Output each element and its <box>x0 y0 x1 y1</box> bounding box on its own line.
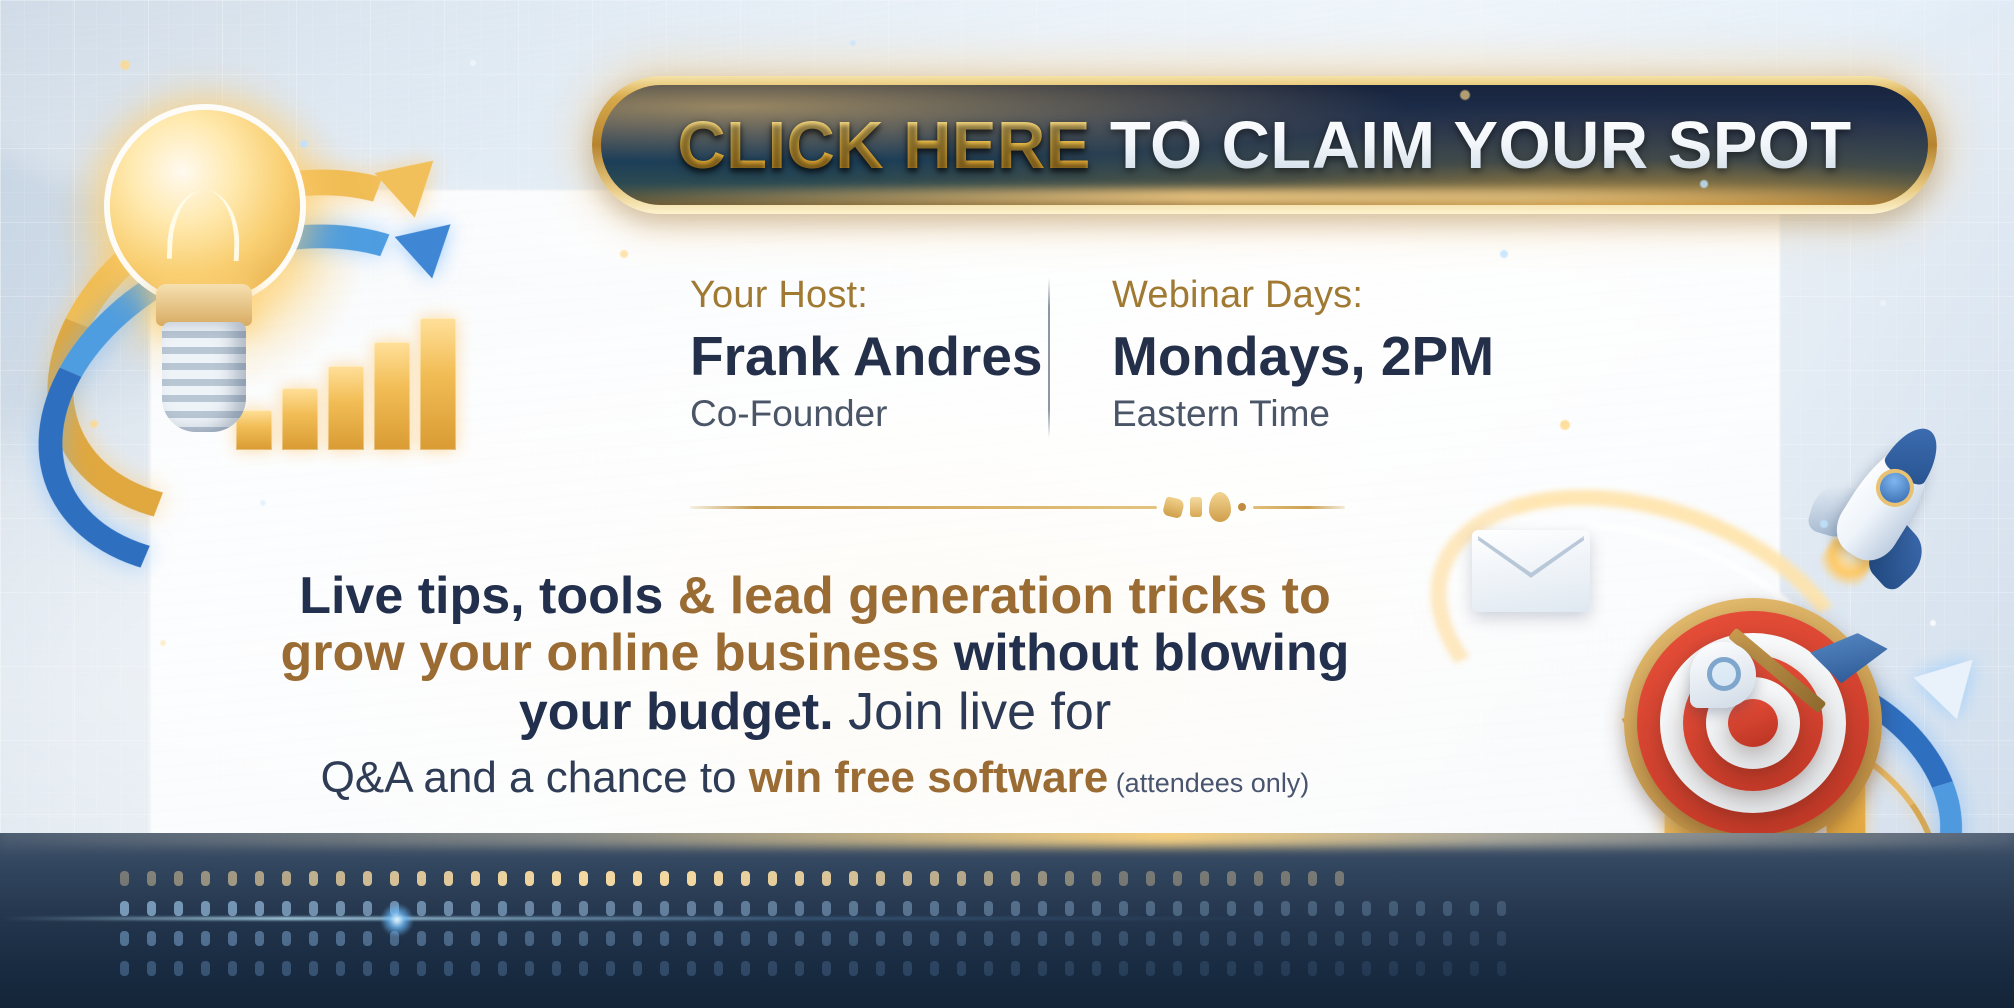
footer-dot <box>201 931 210 946</box>
footer-dot <box>876 901 885 916</box>
footer-dot <box>390 871 399 886</box>
footer-dot <box>687 871 696 886</box>
footer-dot <box>552 961 561 976</box>
footer-dot <box>822 961 831 976</box>
footer-dot <box>1065 901 1074 916</box>
footer-dot <box>903 901 912 916</box>
lightbulb-growth-illustration <box>28 70 548 490</box>
footer-light-star <box>380 903 414 937</box>
footer-dot <box>525 871 534 886</box>
footer-dot <box>1011 931 1020 946</box>
footer-dot <box>1497 931 1506 946</box>
sparkle <box>1880 300 1886 306</box>
host-column: Your Host: Frank Andres Co-Founder <box>690 272 1048 437</box>
footer-dot <box>1065 961 1074 976</box>
footer-dot <box>687 901 696 916</box>
footer-dot <box>471 961 480 976</box>
footer-dot <box>1281 961 1290 976</box>
footer-dot <box>768 901 777 916</box>
footer-dot <box>1416 961 1425 976</box>
sparkle <box>160 640 166 646</box>
footer-dot <box>1227 901 1236 916</box>
footer-dot <box>1389 901 1398 916</box>
footer-dot <box>1497 901 1506 916</box>
footer-top-glow <box>0 833 2014 847</box>
footer-dot <box>120 961 129 976</box>
footer-dot <box>444 961 453 976</box>
footer-dot <box>849 931 858 946</box>
sparkle <box>1820 520 1828 528</box>
footer-dot <box>336 871 345 886</box>
footer-dot <box>552 901 561 916</box>
schedule-eyebrow: Webinar Days: <box>1112 272 1410 320</box>
footer-dot <box>1173 871 1182 886</box>
footer-dot <box>660 871 669 886</box>
headline-line-2: grow your online business without blowin… <box>150 625 1480 682</box>
footer-dot <box>255 901 264 916</box>
footer-dot <box>1119 931 1128 946</box>
footer-dot <box>282 871 291 886</box>
footer-dot <box>822 931 831 946</box>
headline-line-2-navy: without blowing <box>954 624 1350 682</box>
footer-dot <box>633 961 642 976</box>
footer-dot <box>417 871 426 886</box>
growth-arrow-blue-right-tip <box>1914 639 1995 720</box>
footer-dot <box>930 961 939 976</box>
footer-dot <box>1038 871 1047 886</box>
footer-dot <box>1065 931 1074 946</box>
footer-dot <box>1281 901 1290 916</box>
footer-dot <box>552 871 561 886</box>
footer-dot <box>1227 961 1236 976</box>
footer-dot <box>660 901 669 916</box>
footer-dot <box>957 901 966 916</box>
footer-dot <box>309 931 318 946</box>
footer-dot <box>1362 961 1371 976</box>
footer-dot <box>1362 901 1371 916</box>
divider-gem-1 <box>1162 495 1185 518</box>
footer-dot <box>1227 931 1236 946</box>
footer-dot <box>147 931 156 946</box>
footer-dot <box>282 961 291 976</box>
divider-line-right <box>1253 506 1345 509</box>
footer-dot <box>849 871 858 886</box>
footer-dot <box>957 961 966 976</box>
sparkle <box>120 60 130 70</box>
footer-dot <box>1308 871 1317 886</box>
footer-light-streak <box>0 917 1300 920</box>
headline-line-2-gold: grow your online business <box>281 624 954 682</box>
footer-dot <box>1335 901 1344 916</box>
footer-dot <box>795 961 804 976</box>
footer-dot <box>498 931 507 946</box>
headline-line-1: Live tips, tools & lead generation trick… <box>150 568 1480 625</box>
footer-dot <box>1254 871 1263 886</box>
footer-dot <box>1065 871 1074 886</box>
divider-line-left <box>690 506 1157 509</box>
cta-label-white: TO CLAIM YOUR SPOT <box>1110 108 1852 183</box>
footer-dot <box>120 901 129 916</box>
footer-dot <box>525 961 534 976</box>
footer-dot <box>579 901 588 916</box>
footer-dot <box>228 961 237 976</box>
footer-dot <box>1173 961 1182 976</box>
magnifier-lens <box>1707 657 1741 691</box>
footer-dot <box>1335 871 1344 886</box>
headline-line-4-text: Q&A and a chance to <box>321 753 749 802</box>
footer-dot <box>1443 961 1452 976</box>
envelope-icon <box>1472 530 1590 612</box>
footer-dot <box>1146 871 1155 886</box>
sparkle <box>1930 620 1936 626</box>
footer-dot-row-blue-3 <box>120 961 1506 976</box>
footer-dot <box>147 901 156 916</box>
footer-dot <box>363 901 372 916</box>
footer-dot <box>687 931 696 946</box>
webinar-promo-banner: CLICK HERE TO CLAIM YOUR SPOT Your Host:… <box>0 0 2014 1008</box>
footer-dot <box>255 931 264 946</box>
footer-dot <box>849 901 858 916</box>
footer-dot <box>390 961 399 976</box>
footer-dot <box>1011 871 1020 886</box>
footer-dot <box>795 871 804 886</box>
footer-dot <box>1416 901 1425 916</box>
footer-dot <box>930 871 939 886</box>
footer-dot <box>336 931 345 946</box>
divider-gem-4 <box>1238 503 1246 511</box>
footer-dot <box>768 871 777 886</box>
headline-line-3: your budget. Join live for <box>150 684 1480 741</box>
footer-dot <box>795 931 804 946</box>
footer-dot <box>471 871 480 886</box>
footer-dot <box>1038 961 1047 976</box>
footer-dot <box>714 931 723 946</box>
schedule-column: Webinar Days: Mondays, 2PM Eastern Time <box>1050 272 1410 437</box>
footer-dot <box>849 961 858 976</box>
footer-dot <box>498 961 507 976</box>
footer-dot <box>498 871 507 886</box>
footer-dot <box>1497 961 1506 976</box>
footer-dot <box>1146 961 1155 976</box>
cta-label-gold: CLICK HERE <box>677 108 1090 183</box>
footer-dot <box>471 901 480 916</box>
footer-dot <box>444 901 453 916</box>
host-role: Co-Founder <box>690 392 1048 436</box>
footer-dot <box>1470 931 1479 946</box>
footer-dot <box>741 961 750 976</box>
footer-dot <box>1335 931 1344 946</box>
footer-dot <box>309 901 318 916</box>
footer-dot <box>1470 901 1479 916</box>
footer-dot <box>579 931 588 946</box>
footer-dot <box>606 931 615 946</box>
footer-dot <box>336 901 345 916</box>
footer-dot <box>444 931 453 946</box>
footer-dot <box>363 931 372 946</box>
footer-dot-row-gold <box>120 871 1344 886</box>
footer-dot <box>309 961 318 976</box>
footer-dot <box>1011 961 1020 976</box>
footer-dot <box>930 931 939 946</box>
headline-line-4-gold: win free software <box>749 753 1108 802</box>
footer-dot <box>201 901 210 916</box>
footer-dot <box>1173 901 1182 916</box>
magnifier-icon <box>1690 642 1760 730</box>
footer-dot-row-blue-2 <box>120 931 1506 946</box>
footer-dot <box>1389 961 1398 976</box>
cta-label: CLICK HERE TO CLAIM YOUR SPOT <box>677 107 1851 184</box>
host-name: Frank Andres <box>690 324 1048 389</box>
info-columns: Your Host: Frank Andres Co-Founder Webin… <box>690 272 1410 438</box>
ornament-divider <box>690 492 1345 522</box>
sparkle <box>1500 250 1508 258</box>
footer-dot <box>741 931 750 946</box>
schedule-days: Mondays, 2PM <box>1112 324 1410 389</box>
headline-block: Live tips, tools & lead generation trick… <box>150 568 1480 802</box>
lightbulb-base <box>162 322 246 432</box>
footer-dot <box>120 931 129 946</box>
footer-dot <box>255 871 264 886</box>
footer-dot <box>1119 961 1128 976</box>
footer-dot <box>822 871 831 886</box>
footer-dot <box>1308 961 1317 976</box>
footer-dot <box>1389 931 1398 946</box>
footer-dot <box>417 931 426 946</box>
headline-line-1-navy: Live tips, tools <box>299 567 678 625</box>
footer-dot <box>1146 901 1155 916</box>
footer-dot <box>741 871 750 886</box>
footer-dot <box>1281 871 1290 886</box>
footer-dot <box>876 871 885 886</box>
sparkle <box>470 60 476 66</box>
footer-dot <box>174 901 183 916</box>
footer-dot <box>1146 931 1155 946</box>
footer-dot <box>363 871 372 886</box>
footer-dot <box>1092 931 1101 946</box>
footer-dot <box>174 931 183 946</box>
footer-dot <box>363 961 372 976</box>
headline-line-3-thin: Join live for <box>834 683 1111 741</box>
footer-dot <box>1200 901 1209 916</box>
divider-gem-2 <box>1190 497 1202 517</box>
headline-line-4-note: (attendees only) <box>1108 768 1309 798</box>
footer-dot <box>903 871 912 886</box>
footer-dot <box>147 961 156 976</box>
footer-dot <box>1443 931 1452 946</box>
footer-dot <box>606 961 615 976</box>
footer-dot <box>1092 961 1101 976</box>
footer-dot <box>930 901 939 916</box>
footer-dot <box>1200 931 1209 946</box>
footer-dot <box>174 961 183 976</box>
footer-dot <box>957 931 966 946</box>
footer-dot <box>579 961 588 976</box>
host-eyebrow: Your Host: <box>690 272 1048 320</box>
cta-inner: CLICK HERE TO CLAIM YOUR SPOT <box>601 85 1928 205</box>
headline-line-3-navy: your budget. <box>519 683 834 741</box>
footer-dot <box>525 901 534 916</box>
sparkle <box>260 500 266 506</box>
sparkle <box>90 420 98 428</box>
footer-dot <box>228 931 237 946</box>
footer-dot <box>876 961 885 976</box>
footer-dot <box>1308 931 1317 946</box>
sparkle <box>520 430 528 438</box>
footer-dot <box>741 901 750 916</box>
footer-dot <box>1200 961 1209 976</box>
footer-dot <box>714 961 723 976</box>
footer-dot <box>1119 871 1128 886</box>
footer-dot <box>228 871 237 886</box>
footer-dot <box>1281 931 1290 946</box>
footer-dot <box>1200 871 1209 886</box>
footer-dot <box>660 931 669 946</box>
footer-dot <box>1092 871 1101 886</box>
footer-dot-row-blue-1 <box>120 901 1506 916</box>
footer-dot <box>120 871 129 886</box>
footer-dot <box>282 901 291 916</box>
footer-dot <box>1173 931 1182 946</box>
footer-dot <box>768 961 777 976</box>
footer-dot <box>1443 901 1452 916</box>
footer-dot <box>633 901 642 916</box>
footer-dot <box>768 931 777 946</box>
footer-dot <box>903 961 912 976</box>
footer-dot <box>1011 901 1020 916</box>
footer-dot <box>309 871 318 886</box>
footer-dot <box>471 931 480 946</box>
footer-dot <box>876 931 885 946</box>
footer-dot <box>687 961 696 976</box>
footer-dot <box>984 931 993 946</box>
claim-spot-cta-button[interactable]: CLICK HERE TO CLAIM YOUR SPOT <box>592 76 1937 214</box>
footer-dot <box>228 901 237 916</box>
footer-dot <box>822 901 831 916</box>
footer-dot <box>714 871 723 886</box>
footer-dot <box>417 961 426 976</box>
footer-dot <box>633 931 642 946</box>
sparkle <box>1460 90 1470 100</box>
sparkle <box>1560 420 1570 430</box>
footer-dot <box>336 961 345 976</box>
footer-dot <box>660 961 669 976</box>
footer-dot <box>1308 901 1317 916</box>
footer-dot <box>444 871 453 886</box>
footer-dot <box>552 931 561 946</box>
footer-dot <box>498 901 507 916</box>
footer-dot <box>579 871 588 886</box>
footer-dot <box>1119 901 1128 916</box>
headline-line-4: Q&A and a chance to win free software (a… <box>150 754 1480 802</box>
footer-dot <box>984 961 993 976</box>
footer-dot <box>1254 961 1263 976</box>
footer-dot <box>282 931 291 946</box>
footer-dot <box>174 871 183 886</box>
footer-dot <box>1092 901 1101 916</box>
schedule-timezone: Eastern Time <box>1112 392 1410 436</box>
sparkle <box>850 40 856 46</box>
footer-dot <box>1254 931 1263 946</box>
footer-dot <box>714 901 723 916</box>
footer-dot <box>984 871 993 886</box>
divider-gem-3 <box>1209 492 1231 522</box>
footer-dot <box>795 901 804 916</box>
footer-dot <box>525 931 534 946</box>
footer-dot <box>606 901 615 916</box>
lightbulb-neck <box>156 284 252 326</box>
footer-dot <box>633 871 642 886</box>
sparkle <box>620 250 628 258</box>
footer-dot <box>1254 901 1263 916</box>
footer-dot <box>417 901 426 916</box>
footer-dot <box>957 871 966 886</box>
footer-dot <box>201 961 210 976</box>
footer-dot <box>1038 901 1047 916</box>
sparkle <box>300 140 308 148</box>
footer-dot <box>1038 931 1047 946</box>
footer-dot <box>1470 961 1479 976</box>
footer-dot <box>1227 871 1236 886</box>
headline-line-1-gold: & lead generation tricks to <box>678 567 1331 625</box>
footer-band <box>0 833 2014 1008</box>
footer-dot <box>606 871 615 886</box>
footer-dot <box>1362 931 1371 946</box>
footer-dot <box>984 901 993 916</box>
footer-dot <box>147 871 156 886</box>
footer-dot <box>255 961 264 976</box>
footer-dot <box>201 871 210 886</box>
footer-dot <box>1416 931 1425 946</box>
footer-dot <box>903 931 912 946</box>
footer-dot <box>1335 961 1344 976</box>
